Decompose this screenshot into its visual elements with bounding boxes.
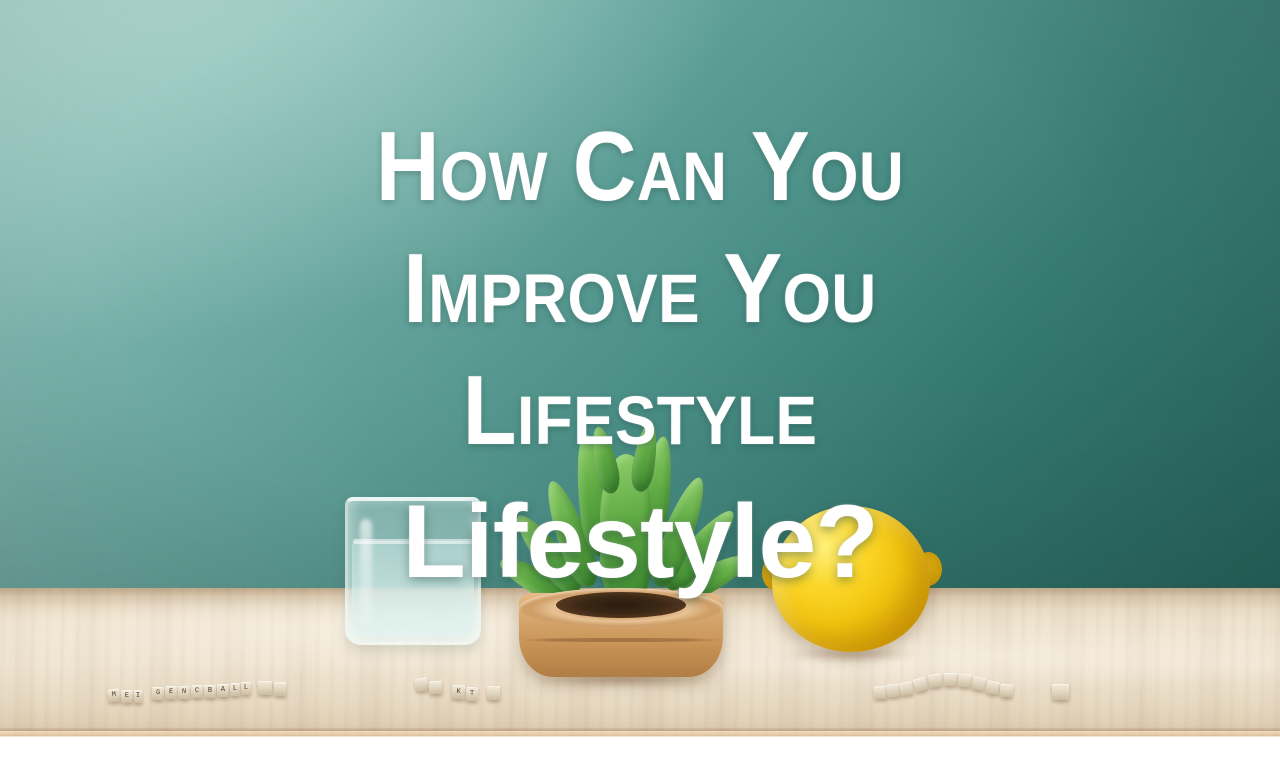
letter-tile bbox=[414, 677, 429, 692]
letter-tile bbox=[985, 680, 1000, 695]
letter-tile bbox=[258, 681, 272, 695]
letter-tile bbox=[957, 673, 971, 687]
letter-tile bbox=[429, 681, 443, 695]
letter-tile bbox=[1052, 684, 1069, 700]
letter-tiles: MEIGENCBALLKT bbox=[0, 0, 1280, 768]
letter-tile bbox=[928, 673, 943, 688]
letter-tile bbox=[1000, 684, 1014, 698]
letter-tile: I bbox=[134, 690, 142, 703]
lifestyle-banner-image: MEIGENCBALLKT How Can You Improve You Li… bbox=[0, 0, 1280, 768]
letter-tile: L bbox=[241, 682, 251, 695]
letter-tile bbox=[971, 676, 986, 691]
letter-tile: T bbox=[466, 687, 478, 701]
letter-tile bbox=[487, 686, 500, 700]
letter-tile bbox=[274, 682, 286, 696]
